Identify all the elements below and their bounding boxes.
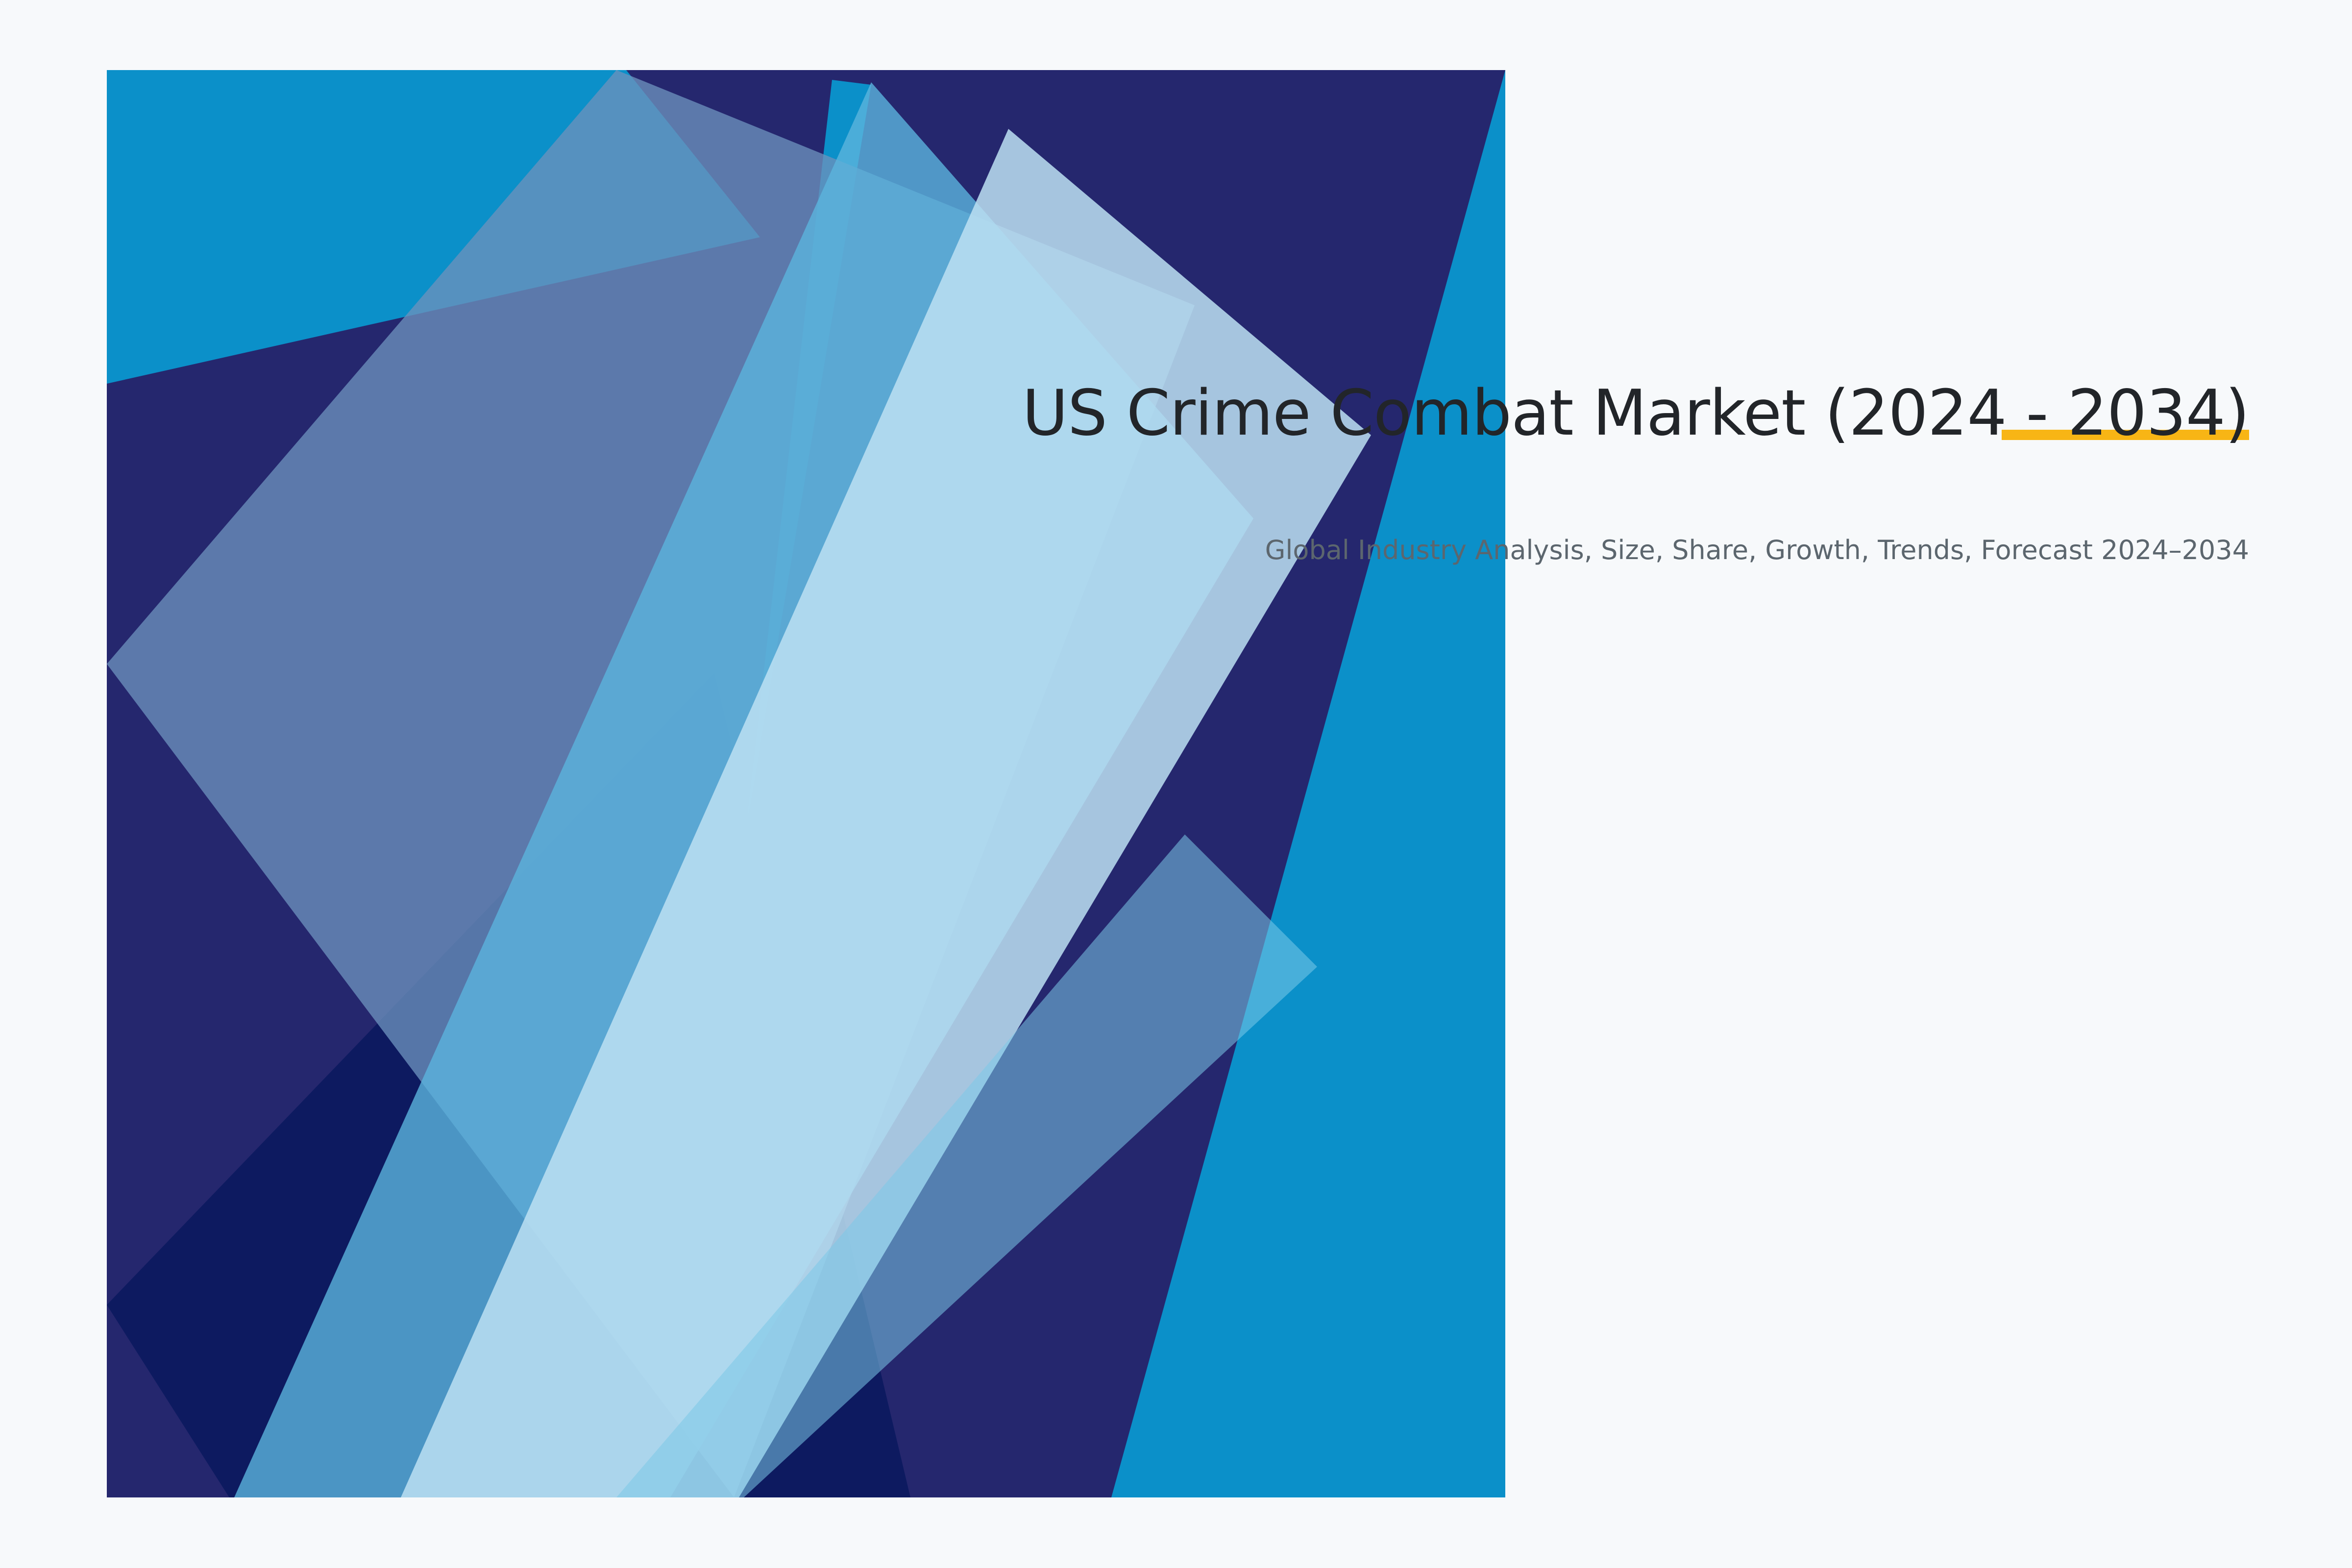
page-subtitle: Global Industry Analysis, Size, Share, G… <box>1009 450 2249 567</box>
abstract-geometric-artwork <box>107 70 1505 1497</box>
cover-page: US Crime Combat Market (2024 - 2034) Glo… <box>0 0 2352 1568</box>
cover-text-block: US Crime Combat Market (2024 - 2034) Glo… <box>1009 377 2249 568</box>
page-title: US Crime Combat Market (2024 - 2034) <box>1009 377 2249 450</box>
artwork-svg <box>107 70 1505 1497</box>
title-wrapper: US Crime Combat Market (2024 - 2034) <box>1009 377 2249 450</box>
